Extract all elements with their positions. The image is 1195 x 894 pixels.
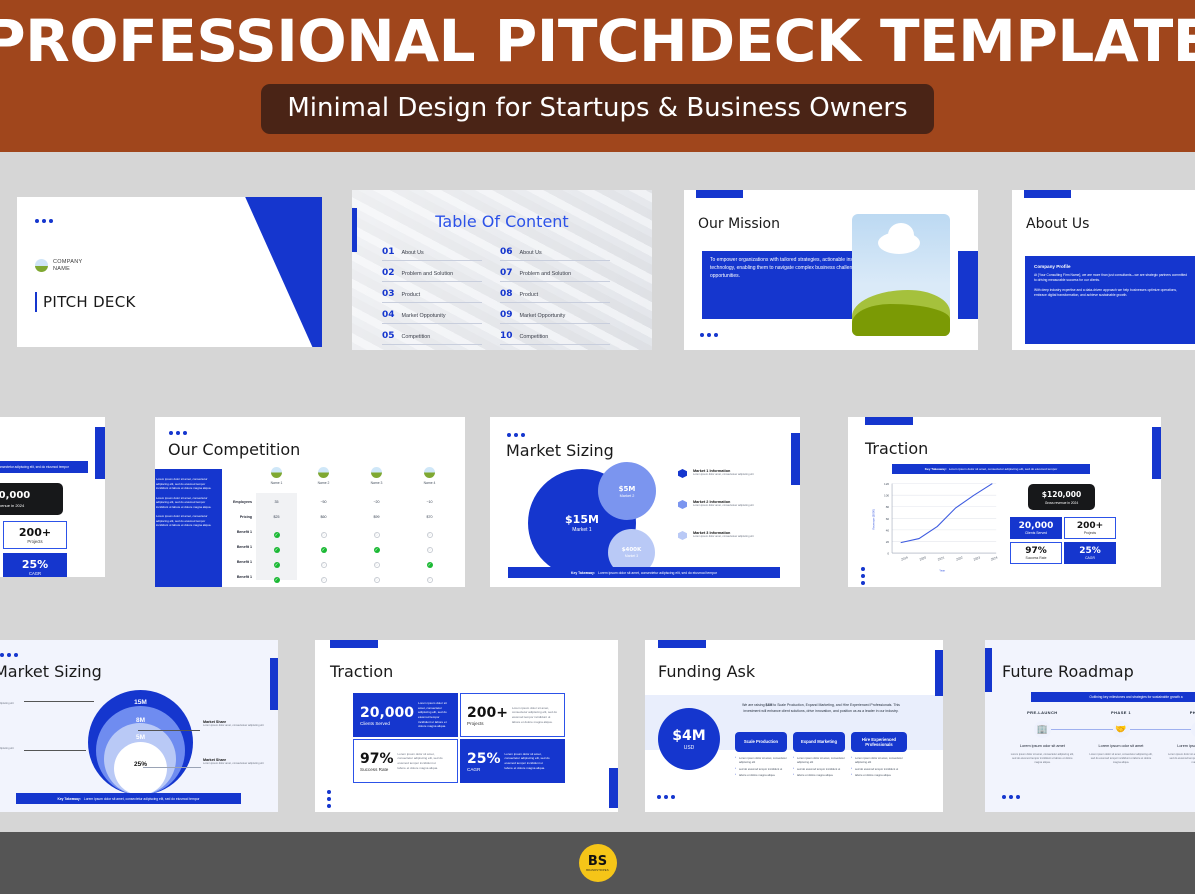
- card-heading: Scale Production: [735, 732, 787, 752]
- callout-leader-line: [138, 730, 200, 731]
- cover-title: PITCH DECK: [43, 293, 136, 311]
- rings-title: Market Sizing: [0, 662, 102, 681]
- connector-line: [1051, 729, 1082, 730]
- toc-column-right: 06 About Us 07 Problem and Solution 08 P…: [500, 247, 610, 345]
- competitor-avatar-icon: [371, 467, 382, 478]
- footer-bar: BS BRANDSTRIPES: [0, 832, 1195, 894]
- circle-empty-icon: ○: [427, 577, 433, 583]
- toc-item[interactable]: 05 Competition: [382, 331, 482, 345]
- bubble-label: Market 1: [572, 527, 591, 533]
- toc-number: 02: [382, 268, 395, 278]
- legend-body: Lorem ipsum dolor amet, consectetuer adi…: [693, 504, 754, 508]
- market-sizing-title: Market Sizing: [506, 441, 614, 460]
- toc-label: Product: [520, 292, 539, 298]
- revenue-value: $120,000: [0, 490, 30, 501]
- funding-currency: USD: [684, 745, 695, 751]
- cell-value: ~10: [403, 500, 456, 504]
- svg-text:2019: 2019: [901, 555, 909, 561]
- stat-label: Projects: [1084, 531, 1096, 535]
- stat-cagr: 25% CAGR: [3, 553, 67, 577]
- logo-initials: BS: [588, 855, 607, 868]
- intro-pre: We are raising: [742, 703, 765, 707]
- revenue-label: Gross revenue in 2024: [0, 503, 24, 508]
- roadmap-phase-pre-launch: PRE-LAUNCH 🏢 Lorem ipsum odor sit amet L…: [1003, 710, 1082, 765]
- stat-description: Lorem ipsum dolor sit amet, consectetur …: [418, 701, 451, 729]
- revenue-highlight-box: $120,000 Gross revenue in 2024: [1028, 484, 1095, 510]
- card-bullet: labore et dolore magna aliqua.: [793, 774, 845, 778]
- row-label: Benefit 1: [225, 560, 256, 564]
- stat-value: 97%: [1025, 546, 1047, 556]
- nested-rings-chart: 15M 8M 5M 25%: [88, 690, 193, 795]
- cell-value: 35: [256, 500, 297, 504]
- lightbulb-icon: 💡: [1191, 721, 1195, 738]
- accent-tab: [95, 427, 105, 479]
- roadmap-accent-tab: [985, 648, 992, 692]
- dots-decoration: [327, 790, 331, 808]
- phase-heading: Lorem ipsum odor sit amet: [1160, 744, 1195, 749]
- circle-empty-icon: ○: [374, 577, 380, 583]
- callout-body: Lorem ipsum dolor amet, consectetuer adi…: [203, 724, 269, 728]
- callout-leader-line: [24, 701, 94, 702]
- stat-success-rate: 97% Success Rate: [1010, 542, 1062, 564]
- svg-text:Revenue ($000): Revenue ($000): [872, 509, 876, 530]
- callout-body: Lorem ipsum dolor amet, consectetuer adi…: [0, 747, 23, 751]
- toc-label: Competition: [402, 334, 431, 340]
- key-takeaway-bar: Key Takeaway: Lorem ipsum dolor sit amet…: [16, 793, 241, 804]
- about-accent-tab: [1024, 190, 1071, 198]
- bubble-value: $15M: [565, 513, 599, 526]
- svg-text:100: 100: [884, 494, 889, 498]
- card-heading: Hire Experienced Professionals: [851, 732, 907, 752]
- mission-illustration: [852, 214, 950, 336]
- bubble-value: $5M: [619, 485, 636, 493]
- toc-label: About Us: [402, 250, 424, 256]
- competitor-name: Name 2: [297, 481, 350, 485]
- slide-row-1: COMPANY NAME PITCH DECK Table Of Content…: [0, 180, 1195, 365]
- stat-value: 200+: [1077, 521, 1103, 531]
- accent-tab: [935, 650, 943, 696]
- cloud-icon: [888, 223, 914, 247]
- title-accent-bar: [35, 292, 37, 312]
- revenue-label: Gross revenue in 2024: [1045, 501, 1078, 505]
- funding-title: Funding Ask: [658, 662, 755, 681]
- svg-text:2021: 2021: [937, 555, 945, 561]
- about-paragraph-1: At [Your Consulting Firm Name], we are m…: [1034, 273, 1188, 283]
- svg-text:2022: 2022: [956, 555, 964, 561]
- ring-label: 15M: [88, 699, 193, 706]
- market-legend: Market 1 Information Lorem ipsum dolor a…: [678, 469, 788, 540]
- page-root: PROFESSIONAL PITCHDECK TEMPLATE Minimal …: [0, 0, 1195, 894]
- stat-value: 25%: [22, 558, 48, 571]
- bubble-market-2: $5M Market 2: [598, 462, 656, 520]
- handshake-icon: 🤝: [1113, 721, 1130, 738]
- stat-label: CAGR: [467, 767, 480, 772]
- stat-value: 25%: [467, 751, 501, 767]
- slide-row-2: Lorem ipsum dolor sit amet, consectetur …: [0, 405, 1195, 600]
- about-title: About Us: [1026, 216, 1089, 232]
- about-paragraph-2: With deep industry expertise and a data-…: [1034, 288, 1188, 298]
- competitor-avatar-icon: [424, 467, 435, 478]
- roadmap-title: Future Roadmap: [1002, 662, 1134, 681]
- key-takeaway-bar: Lorem ipsum dolor sit amet, consectetur …: [0, 461, 88, 473]
- about-card-heading: Company Profile: [1034, 264, 1188, 269]
- mission-accent-right: [958, 251, 978, 319]
- stat-success-rate: 97% Success Rate Lorem ipsum dolor sit a…: [353, 739, 458, 783]
- legend-item: Market 1 Information Lorem ipsum dolor a…: [678, 469, 788, 478]
- bubble-label: Market 2: [620, 494, 635, 498]
- stat-projects: 200+ Projects Lorem ipsum dolor sit amet…: [460, 693, 565, 737]
- slide-row-3: Market Sizing 15M 8M 5M 25% Total Market…: [0, 628, 1195, 828]
- company-name-line2: NAME: [53, 266, 70, 272]
- accent-tab: [791, 433, 800, 485]
- row-label: Benefit 1: [225, 545, 256, 549]
- company-name-line1: COMPANY: [53, 259, 83, 265]
- legend-body: Lorem ipsum dolor amet, consectetuer adi…: [693, 473, 754, 477]
- traction-accent-tab: [865, 417, 913, 425]
- stat-label: Success Rate: [360, 767, 388, 772]
- toc-number: 06: [500, 247, 513, 257]
- mission-title: Our Mission: [698, 216, 780, 232]
- about-company-profile-card: Company Profile At [Your Consulting Firm…: [1025, 256, 1195, 344]
- callout-total-market-size: Total Market Size Lorem ipsum dolor amet…: [0, 698, 23, 706]
- svg-text:0: 0: [887, 551, 889, 555]
- card-bullet: Lorem ipsum dolor sit amet, consectetur …: [793, 757, 845, 765]
- toc-number: 09: [500, 310, 513, 320]
- circle-empty-icon: ○: [321, 577, 327, 583]
- competitor-name: Name 3: [350, 481, 403, 485]
- side-panel-paragraph: Lorem ipsum dolor sit amet, consectetur …: [156, 496, 216, 510]
- side-panel-paragraph: Lorem ipsum dolor sit amet, consectetur …: [156, 514, 216, 528]
- hexagon-icon: [678, 531, 687, 540]
- stat-cagr: 25% CAGR Lorem ipsum dolor sit amet, con…: [460, 739, 565, 783]
- connector-line: [1082, 729, 1113, 730]
- toc-item[interactable]: 10 Competition: [500, 331, 610, 345]
- dots-decoration: [700, 333, 718, 337]
- card-bullet: labore et dolore magna aliqua.: [851, 774, 907, 778]
- stat-label: Projects: [467, 721, 484, 726]
- phase-label: PHASE 1: [1082, 710, 1161, 715]
- traction-title: Traction: [330, 662, 393, 681]
- phase-body: Lorem ipsum dolor sit amet, consectetur …: [1003, 753, 1082, 765]
- toc-item[interactable]: 06 About Us: [500, 247, 610, 261]
- toc-label: Problem and Solution: [402, 271, 454, 277]
- toc-label: Product: [402, 292, 421, 298]
- logo-subtext: BRANDSTRIPES: [586, 869, 609, 872]
- competitor-name: Name 1: [256, 481, 297, 485]
- competition-side-panel: Lorem ipsum dolor sit amet, consectetur …: [155, 469, 222, 587]
- svg-text:60: 60: [886, 517, 890, 521]
- stat-value: 25%: [1079, 546, 1101, 556]
- funding-intro-text: We are raising $4M to Scale Production, …: [735, 703, 907, 714]
- row-label: Pricing: [225, 515, 256, 519]
- stat-label: CAGR: [1085, 556, 1095, 560]
- toc-item[interactable]: 02 Problem and Solution: [382, 268, 482, 282]
- stat-label: Clients Served: [360, 721, 390, 726]
- stat-description: Lorem ipsum dolor sit amet, consectetur …: [398, 752, 444, 771]
- slide-traction-stats-partial[interactable]: Lorem ipsum dolor sit amet, consectetur …: [0, 417, 105, 577]
- key-takeaway-label: Key Takeaway:: [925, 467, 947, 471]
- toc-label: Problem and Solution: [520, 271, 572, 277]
- key-takeaway-label: Key Takeaway:: [57, 797, 80, 801]
- competitor-name: Name 4: [403, 481, 456, 485]
- legend-body: Lorem ipsum dolor amet, consectetuer adi…: [693, 535, 754, 539]
- accent-tab: [1152, 427, 1161, 479]
- competition-table-body: Employees 35 ~50 ~20 ~10 Pricing $25 $60…: [225, 495, 457, 584]
- key-takeaway-bar: Key Takeaway: Lorem ipsum dolor sit amet…: [892, 464, 1090, 474]
- stat-description: Lorem ipsum dolor sit amet, consectetur …: [505, 752, 551, 771]
- toc-label: Market Opportunity: [520, 313, 566, 319]
- cell-value: $25: [256, 515, 297, 519]
- stat-clients-served: 20,000 Clients Served: [1010, 517, 1062, 539]
- card-bullet: Lorem ipsum dolor sit amet, consectetur …: [735, 757, 787, 765]
- dots-decoration: [1002, 795, 1020, 799]
- toc-number: 03: [382, 289, 395, 299]
- roadmap-phase-1: PHASE 1 🤝 Lorem ipsum odor sit amet Lore…: [1082, 710, 1161, 765]
- callout-market-share-right2: Market Share Lorem ipsum dolor amet, con…: [203, 758, 269, 766]
- slide-table-of-content[interactable]: Table Of Content 01 About Us 02 Problem …: [352, 190, 652, 350]
- table-row: Benefit 1 ✓ ○ ○ ○: [225, 569, 457, 584]
- cell-value: ~50: [297, 500, 350, 504]
- key-takeaway-label: Key Takeaway:: [571, 571, 595, 575]
- hill-shape: [852, 304, 950, 336]
- slide-future-roadmap[interactable]: Future Roadmap Outlining key milestones …: [985, 640, 1195, 812]
- card-bullet: labore et dolore magna aliqua.: [735, 774, 787, 778]
- roadmap-banner: Outlining key milestones and strategies …: [1031, 692, 1195, 702]
- card-bullet: Lorem ipsum dolor sit amet, consectetur …: [851, 757, 907, 765]
- svg-text:40: 40: [886, 528, 890, 532]
- toc-item[interactable]: 07 Problem and Solution: [500, 268, 610, 282]
- slide-our-mission[interactable]: Our Mission To empower organizations wit…: [684, 190, 978, 350]
- stat-value: 20,000: [360, 705, 414, 721]
- phase-body: Lorem ipsum dolor sit amet, consectetur …: [1082, 753, 1161, 765]
- competition-header-row: Name 1 Name 2 Name 3 Name 4: [225, 467, 457, 485]
- roadmap-phases: PRE-LAUNCH 🏢 Lorem ipsum odor sit amet L…: [1003, 710, 1195, 765]
- toc-item[interactable]: 01 About Us: [382, 247, 482, 261]
- side-panel-paragraph: Lorem ipsum dolor sit amet, consectetur …: [156, 477, 216, 491]
- funding-amount: $4M: [672, 728, 705, 744]
- toc-item[interactable]: 03 Product: [382, 289, 482, 303]
- ring-label: 8M: [88, 717, 193, 724]
- accent-tab: [609, 768, 618, 808]
- phase-body: Lorem ipsum dolor sit amet, consectetur …: [1160, 753, 1195, 765]
- slide-cover[interactable]: COMPANY NAME PITCH DECK: [17, 197, 322, 347]
- legend-item: Market 3 Information Lorem ipsum dolor a…: [678, 531, 788, 540]
- brand-logo[interactable]: BS BRANDSTRIPES: [579, 844, 617, 882]
- stat-label: Clients Served: [1025, 531, 1047, 535]
- row-label: Benefit 1: [225, 575, 256, 579]
- card-bullet: sed do eiusmod tempor incididunt ut: [793, 768, 845, 772]
- revenue-line-chart: 120 100 80 60 40 20 0 2019 2020 2021 202…: [866, 477, 1001, 577]
- stat-projects: 200+ Projects: [3, 521, 67, 549]
- stat-value: 20,000: [1019, 521, 1054, 531]
- slide-traction-chart[interactable]: Traction Key Takeaway: Lorem ipsum dolor…: [848, 417, 1161, 587]
- card-heading: Expand Marketing: [793, 732, 845, 752]
- dots-decoration: [35, 219, 53, 223]
- toc-number: 07: [500, 268, 513, 278]
- toc-item[interactable]: 09 Market Opportunity: [500, 310, 610, 324]
- competition-title: Our Competition: [168, 440, 300, 459]
- hexagon-icon: [678, 500, 687, 509]
- cell-value: $60: [297, 515, 350, 519]
- svg-text:Year: Year: [939, 568, 945, 572]
- hexagon-icon: [678, 469, 687, 478]
- dots-decoration: [0, 653, 18, 657]
- key-takeaway-text: Lorem ipsum dolor sit amet, consectetur …: [949, 467, 1058, 471]
- toc-item[interactable]: 08 Product: [500, 289, 610, 303]
- stat-clients-served: 20,000 Clients Served Lorem ipsum dolor …: [353, 693, 458, 737]
- dots-decoration: [169, 431, 187, 435]
- building-icon: 🏢: [1034, 721, 1051, 738]
- phase-heading: Lorem ipsum odor sit amet: [1003, 744, 1082, 749]
- slide-funding-ask[interactable]: Funding Ask $4M USD We are raising $4M t…: [645, 640, 943, 812]
- stat-label: CAGR: [29, 571, 41, 576]
- page-subtitle-badge: Minimal Design for Startups & Business O…: [261, 84, 933, 134]
- competitor-avatar-icon: [271, 467, 282, 478]
- toc-number: 10: [500, 331, 513, 341]
- svg-text:2023: 2023: [973, 555, 981, 561]
- callout-leader-line: [143, 767, 201, 768]
- revenue-value: $120,000: [1042, 490, 1081, 499]
- key-takeaway-text: Lorem ipsum dolor sit amet, consectetur …: [598, 571, 717, 575]
- cell-value: $70: [403, 515, 456, 519]
- toc-label: Competition: [520, 334, 549, 340]
- cell-value: $99: [350, 515, 403, 519]
- bubble-label: Market 3: [625, 554, 638, 558]
- toc-label: About Us: [520, 250, 542, 256]
- company-logo-icon: [35, 259, 48, 272]
- ring-label: 5M: [88, 734, 193, 741]
- callout-body: Lorem ipsum dolor amet, consectetuer adi…: [203, 762, 269, 766]
- stat-value: 97%: [360, 751, 394, 767]
- stat-label: Projects: [27, 539, 42, 544]
- key-takeaway-text: Lorem ipsum dolor sit amet, consectetur …: [0, 465, 69, 469]
- mission-accent-tab: [696, 190, 743, 198]
- funding-amount-circle: $4M USD: [658, 708, 720, 770]
- svg-text:120: 120: [884, 482, 889, 486]
- traction-title: Traction: [865, 439, 928, 458]
- toc-number: 04: [382, 310, 395, 320]
- svg-text:2020: 2020: [919, 555, 927, 561]
- funding-card-scale-production: Scale Production Lorem ipsum dolor sit a…: [735, 732, 787, 781]
- bubble-value: $400K: [622, 547, 642, 553]
- dots-decoration: [861, 567, 865, 585]
- slide-market-sizing-bubbles[interactable]: Market Sizing $15M Market 1 $5M Market 2…: [490, 417, 800, 587]
- slide-about-us[interactable]: About Us Company Profile At [Your Consul…: [1012, 190, 1195, 350]
- traction-accent-tab: [330, 640, 378, 648]
- stat-label: Success Rate: [1026, 556, 1047, 560]
- toc-title: Table Of Content: [352, 212, 652, 231]
- funding-accent-tab: [658, 640, 706, 648]
- row-label: Employees: [225, 500, 256, 504]
- callout-leader-line: [24, 750, 86, 751]
- phase-heading: Lorem ipsum odor sit amet: [1082, 744, 1161, 749]
- check-icon: ✓: [274, 577, 280, 583]
- cover-wedge: [202, 197, 322, 347]
- company-name: COMPANY NAME: [53, 259, 83, 273]
- legend-item: Market 2 Information Lorem ipsum dolor a…: [678, 500, 788, 509]
- roadmap-phase-2: PHASE 2 💡 Lorem ipsum odor sit amet Lore…: [1160, 710, 1195, 765]
- card-bullet: sed do eiusmod tempor incididunt ut: [851, 768, 907, 772]
- toc-number: 08: [500, 289, 513, 299]
- dots-decoration: [657, 795, 675, 799]
- connector-line: [1160, 729, 1191, 730]
- roadmap-banner-text: Outlining key milestones and strategies …: [1089, 695, 1182, 699]
- page-title: PROFESSIONAL PITCHDECK TEMPLATE: [0, 8, 1195, 75]
- toc-label: Market Oppotunity: [402, 313, 446, 319]
- slide-traction-stat-grid[interactable]: Traction 20,000 Clients Served Lorem ips…: [315, 640, 618, 812]
- dots-decoration: [507, 433, 525, 437]
- svg-text:20: 20: [886, 540, 890, 544]
- stat-value: 200+: [467, 705, 508, 721]
- callout-market-share-left: Market Share Lorem ipsum dolor amet, con…: [0, 743, 23, 751]
- phase-label: PHASE 2: [1160, 710, 1195, 715]
- stat-value: 200+: [19, 526, 51, 539]
- table-row: Employees 35 ~50 ~20 ~10: [225, 495, 457, 509]
- revenue-highlight-box: $120,000 Gross revenue in 2024: [0, 483, 63, 515]
- key-takeaway-bar: Key Takeaway: Lorem ipsum dolor sit amet…: [508, 567, 780, 578]
- slide-market-sizing-rings[interactable]: Market Sizing 15M 8M 5M 25% Total Market…: [0, 640, 278, 812]
- callout-market-share-right1: Market Share Lorem ipsum dolor amet, con…: [203, 720, 269, 728]
- funding-card-expand-marketing: Expand Marketing Lorem ipsum dolor sit a…: [793, 732, 845, 781]
- svg-text:80: 80: [886, 505, 890, 509]
- promo-header: PROFESSIONAL PITCHDECK TEMPLATE Minimal …: [0, 0, 1195, 152]
- svg-text:2024: 2024: [990, 555, 998, 561]
- callout-body: Lorem ipsum dolor amet, consectetuer adi…: [0, 702, 23, 706]
- toc-number: 01: [382, 247, 395, 257]
- competitor-avatar-icon: [318, 467, 329, 478]
- key-takeaway-text: Lorem ipsum dolor sit amet, consectetur …: [84, 797, 200, 801]
- cell-value: ~20: [350, 500, 403, 504]
- connector-line: [1130, 729, 1161, 730]
- stat-description: Lorem ipsum dolor sit amet, consectetur …: [512, 706, 558, 725]
- toc-item[interactable]: 04 Market Oppotunity: [382, 310, 482, 324]
- slide-our-competition[interactable]: Our Competition Lorem ipsum dolor sit am…: [155, 417, 465, 587]
- stat-projects: 200+ Projects: [1064, 517, 1116, 539]
- stat-cagr: 25% CAGR: [1064, 542, 1116, 564]
- card-bullet: sed do eiusmod tempor incididunt ut: [735, 768, 787, 772]
- accent-tab: [270, 658, 278, 710]
- phase-label: PRE-LAUNCH: [1003, 710, 1082, 715]
- funding-card-hire-professionals: Hire Experienced Professionals Lorem ips…: [851, 732, 907, 781]
- toc-number: 05: [382, 331, 395, 341]
- toc-column-left: 01 About Us 02 Problem and Solution 03 P…: [382, 247, 482, 345]
- row-label: Benefit 1: [225, 530, 256, 534]
